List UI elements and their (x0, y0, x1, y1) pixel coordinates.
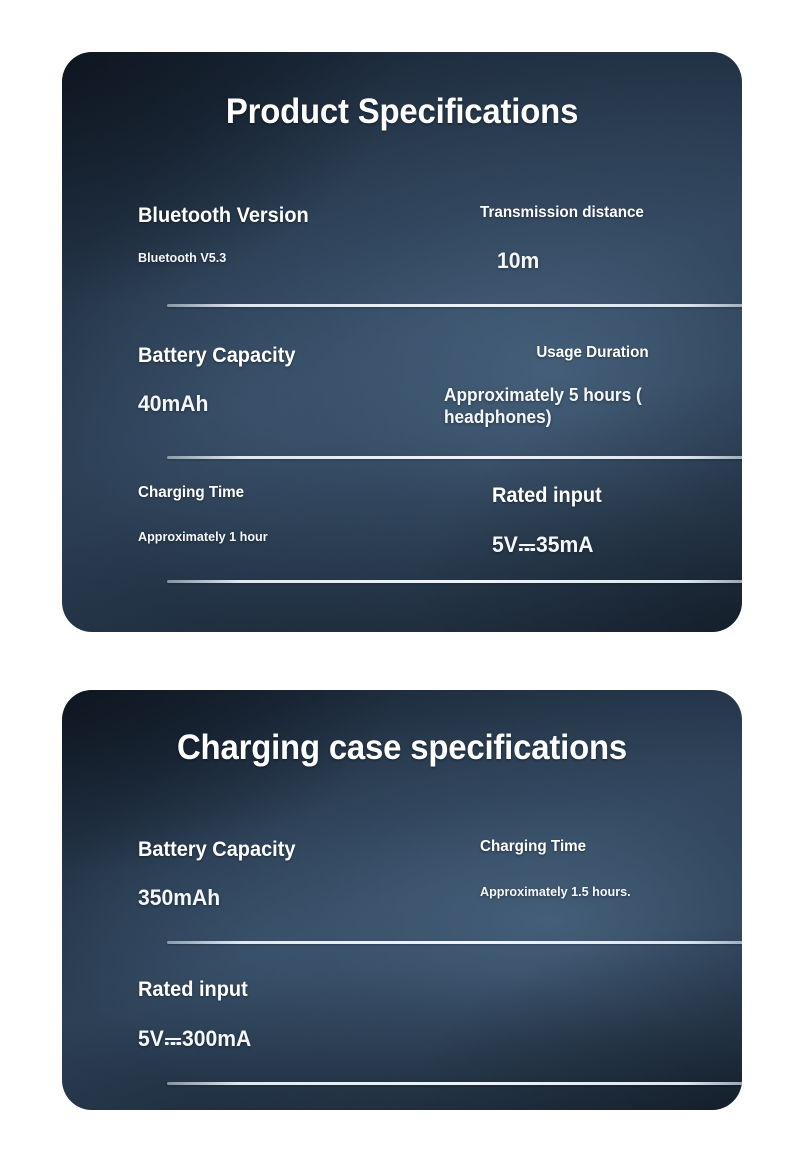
spec-row: Battery Capacity 350mAh Charging Time Ap… (105, 838, 715, 933)
spec-value: Bluetooth V5.3 (138, 250, 458, 265)
spec-cell: Transmission distance 10m (480, 204, 715, 274)
product-specifications-title: Product Specifications (82, 92, 721, 132)
spec-value: 40mAh (138, 391, 455, 417)
charging-case-specifications-title: Charging case specifications (82, 728, 721, 768)
spec-cell: Charging Time Approximately 1.5 hours. (480, 838, 715, 899)
spec-value: Approximately 1 hour (138, 529, 458, 544)
spec-value: 5V300mA (138, 1026, 455, 1052)
spec-row: Rated input 5V300mA (105, 978, 715, 1073)
spec-value: Approximately 1.5 hours. (480, 884, 708, 899)
spec-value: 5V35mA (492, 532, 706, 558)
row-divider (167, 941, 742, 944)
spec-label: Charging Time (480, 838, 703, 856)
spec-cell: Rated input 5V300mA (138, 978, 468, 1052)
voltage-prefix: 5V (492, 532, 518, 557)
spec-cell: Charging Time Approximately 1 hour (138, 484, 468, 544)
spec-row: Bluetooth Version Bluetooth V5.3 Transmi… (105, 204, 715, 299)
spec-label: Rated input (138, 978, 452, 1002)
spec-label: Bluetooth Version (138, 204, 452, 228)
spec-cell: Battery Capacity 40mAh (138, 344, 468, 417)
spec-label: Rated input (492, 484, 704, 508)
spec-label: Charging Time (138, 484, 452, 502)
dc-current-icon (165, 1029, 181, 1051)
spec-value: 350mAh (138, 885, 455, 911)
spec-label: Transmission distance (480, 204, 703, 222)
specifications-page: Product Specifications Bluetooth Version… (0, 0, 790, 1168)
spec-cell: Usage Duration Approximately 5 hours ( h… (480, 344, 715, 428)
row-divider (167, 304, 742, 307)
spec-cell: Battery Capacity 350mAh (138, 838, 468, 911)
spec-value: Approximately 5 hours ( headphones) (444, 384, 686, 428)
spec-label: Battery Capacity (138, 344, 452, 368)
spec-row: Charging Time Approximately 1 hour Rated… (105, 484, 715, 584)
dc-current-icon (519, 535, 535, 557)
spec-value: 10m (497, 248, 706, 274)
product-specifications-card: Product Specifications Bluetooth Version… (62, 52, 742, 632)
row-divider (167, 456, 742, 459)
voltage-prefix: 5V (138, 1026, 164, 1051)
spec-row: Battery Capacity 40mAh Usage Duration Ap… (105, 344, 715, 449)
charging-case-specifications-card: Charging case specifications Battery Cap… (62, 690, 742, 1110)
row-divider (167, 580, 742, 583)
spec-label: Usage Duration (476, 344, 709, 362)
spec-cell: Rated input 5V35mA (480, 484, 715, 558)
spec-label: Battery Capacity (138, 838, 452, 862)
current-suffix: 35mA (536, 532, 594, 557)
spec-cell: Bluetooth Version Bluetooth V5.3 (138, 204, 468, 265)
current-suffix: 300mA (182, 1026, 251, 1051)
row-divider (167, 1082, 742, 1085)
